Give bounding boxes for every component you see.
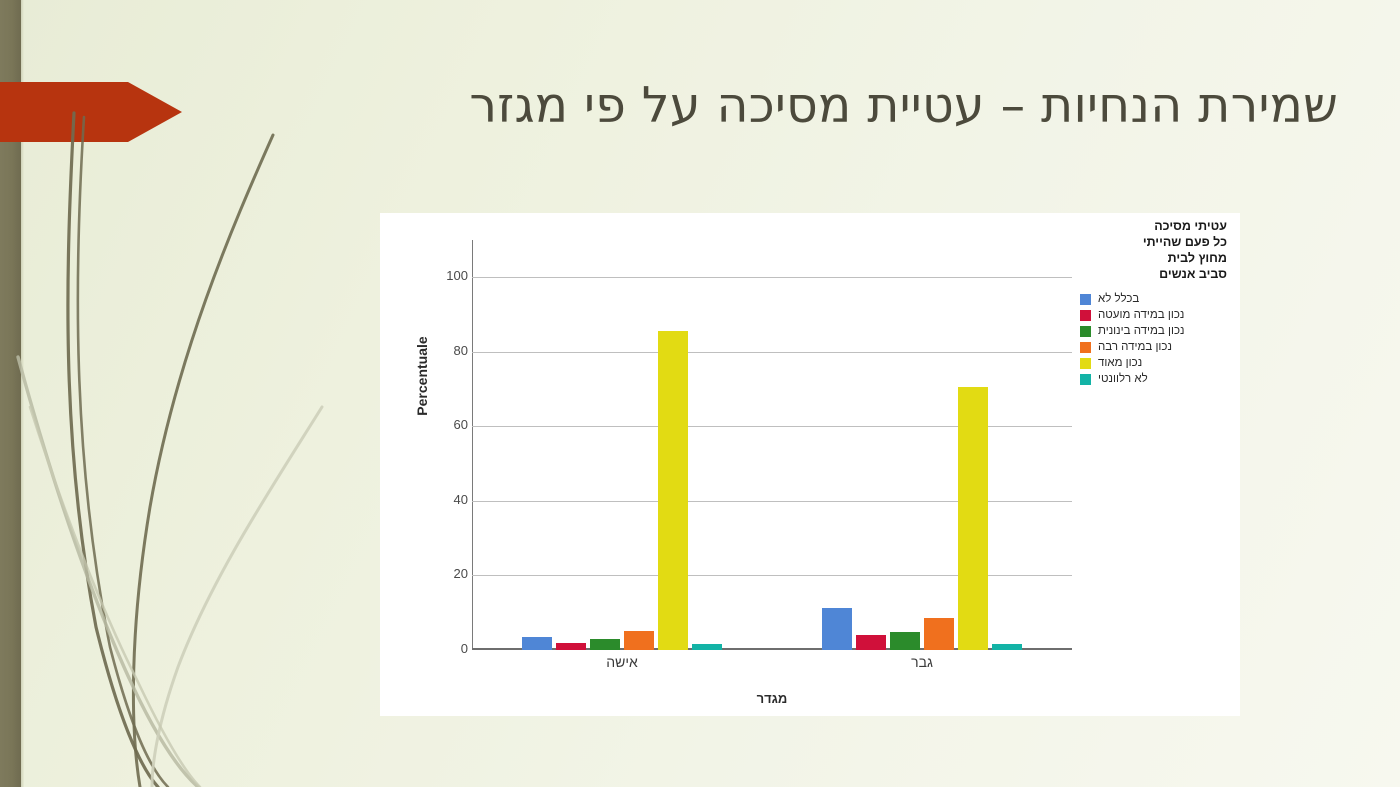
bar [658, 331, 688, 650]
bar [590, 639, 620, 650]
arrow-banner-icon [0, 82, 182, 142]
plot-area: אישהגבר [472, 240, 1072, 650]
y-axis-tick-labels: 020406080100 [428, 213, 468, 716]
legend-item-label: לא רלוונטי [1098, 373, 1148, 385]
x-tick-label: אישה [472, 654, 772, 670]
legend-swatch-icon [1080, 358, 1091, 369]
bar [992, 644, 1022, 650]
bar [522, 637, 552, 650]
legend-title-line: כל פעם שהייתי [1080, 234, 1227, 250]
gridline [472, 352, 1072, 353]
gridline [472, 277, 1072, 278]
bar [924, 618, 954, 650]
y-axis-line [472, 240, 473, 650]
legend-item-label: נכון במידה רבה [1098, 341, 1172, 353]
grass-decoration [0, 107, 330, 787]
bar [822, 608, 852, 650]
legend-swatch-icon [1080, 342, 1091, 353]
chart-plot-wrapper: Percentuale 020406080100 אישהגבר מגדר עט… [380, 213, 1240, 716]
legend-swatch-icon [1080, 294, 1091, 305]
legend-item-list: בכלל לאנכון במידה מועטהנכון במידה בינוני… [1080, 293, 1235, 385]
chart-legend: עטיתי מסיכהכל פעם שהייתימחוץ לביתסביב אנ… [1080, 218, 1235, 389]
bar [958, 387, 988, 650]
bar [692, 644, 722, 650]
legend-item-label: נכון במידה בינונית [1098, 325, 1184, 337]
legend-item-label: נכון מאוד [1098, 357, 1142, 369]
legend-item[interactable]: נכון במידה בינונית [1080, 325, 1235, 337]
page-title: שמירת הנחיות – עטיית מסיכה על פי מגזר [398, 78, 1338, 134]
bar [556, 643, 586, 650]
chart-panel: Percentuale 020406080100 אישהגבר מגדר עט… [380, 213, 1240, 716]
legend-item[interactable]: נכון במידה מועטה [1080, 309, 1235, 321]
legend-item[interactable]: נכון במידה רבה [1080, 341, 1235, 353]
x-tick-label: גבר [772, 654, 1072, 670]
legend-item[interactable]: נכון מאוד [1080, 357, 1235, 369]
legend-title-line: עטיתי מסיכה [1080, 218, 1227, 234]
slide-canvas: שמירת הנחיות – עטיית מסיכה על פי מגזר Pe… [0, 0, 1400, 787]
bar [856, 635, 886, 650]
legend-swatch-icon [1080, 310, 1091, 321]
legend-title-line: סביב אנשים [1080, 266, 1227, 282]
grass-stems-icon [0, 107, 330, 787]
y-tick-label: 20 [428, 566, 468, 581]
legend-item-label: נכון במידה מועטה [1098, 309, 1184, 321]
x-axis-title: מגדר [472, 691, 1072, 706]
legend-item-label: בכלל לא [1098, 293, 1139, 305]
y-tick-label: 40 [428, 492, 468, 507]
y-tick-label: 60 [428, 417, 468, 432]
bar [890, 632, 920, 650]
legend-item[interactable]: לא רלוונטי [1080, 373, 1235, 385]
y-tick-label: 80 [428, 343, 468, 358]
legend-swatch-icon [1080, 326, 1091, 337]
legend-item[interactable]: בכלל לא [1080, 293, 1235, 305]
legend-title: עטיתי מסיכהכל פעם שהייתימחוץ לביתסביב אנ… [1080, 218, 1227, 282]
arrow-banner-decoration [0, 82, 182, 142]
y-tick-label: 100 [428, 268, 468, 283]
bar [624, 631, 654, 650]
y-tick-label: 0 [428, 641, 468, 656]
legend-title-line: מחוץ לבית [1080, 250, 1227, 266]
legend-swatch-icon [1080, 374, 1091, 385]
